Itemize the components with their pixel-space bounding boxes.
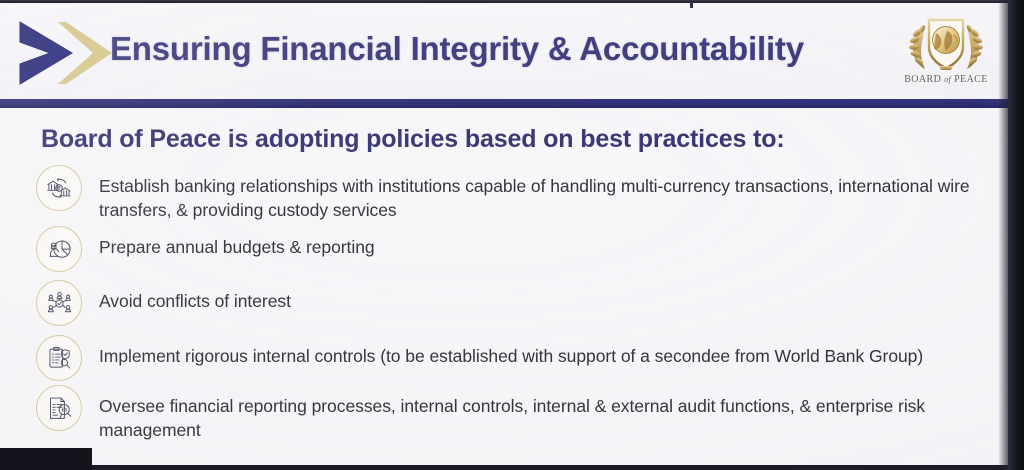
list-item-label: Implement rigorous internal controls (to… bbox=[99, 338, 923, 368]
brand-wordmark: BOARD of PEACE bbox=[904, 74, 988, 85]
wordmark-mid: of bbox=[944, 75, 951, 84]
slide-body: Board of Peace is adopting policies base… bbox=[0, 108, 1010, 465]
bank-transfer-icon bbox=[36, 165, 82, 211]
list-item: Establish banking relationships with ins… bbox=[36, 168, 996, 222]
screen-edge-right bbox=[1008, 0, 1024, 470]
list-item: Prepare annual budgets & reporting bbox=[36, 229, 996, 272]
slide-header: Ensuring Financial Integrity & Accountab… bbox=[0, 3, 1010, 99]
body-lead-heading: Board of Peace is adopting policies base… bbox=[41, 125, 785, 154]
screen-bezel-bottom-left bbox=[0, 448, 92, 470]
brand-logo: BOARD of PEACE bbox=[894, 15, 998, 93]
slide-title: Ensuring Financial Integrity & Accountab… bbox=[110, 30, 804, 68]
screen-edge-top bbox=[0, 0, 1024, 3]
clipboard-check-magnifier-icon bbox=[36, 335, 82, 381]
network-people-icon bbox=[36, 280, 82, 326]
pie-chart-budget-icon bbox=[36, 226, 82, 272]
document-audit-chart-icon bbox=[36, 385, 82, 431]
wordmark-tail: PEACE bbox=[954, 74, 988, 85]
list-item: Implement rigorous internal controls (to… bbox=[36, 338, 996, 381]
policy-bullet-list: Establish banking relationships with ins… bbox=[36, 168, 996, 451]
list-item-label: Prepare annual budgets & reporting bbox=[99, 229, 375, 259]
list-item-label: Establish banking relationships with ins… bbox=[99, 168, 989, 222]
double-chevron-right-icon bbox=[14, 20, 114, 86]
wordmark-lead: BOARD bbox=[904, 74, 941, 85]
header-divider-rule bbox=[0, 99, 1010, 108]
list-item-label: Avoid conflicts of interest bbox=[99, 283, 291, 313]
list-item-label: Oversee financial reporting processes, i… bbox=[99, 388, 989, 442]
screen-top-notch bbox=[690, 0, 693, 8]
list-item: Oversee financial reporting processes, i… bbox=[36, 388, 996, 442]
list-item: Avoid conflicts of interest bbox=[36, 283, 996, 326]
presentation-slide: Ensuring Financial Integrity & Accountab… bbox=[0, 3, 1010, 465]
shield-laurel-globe-icon bbox=[903, 15, 989, 73]
projected-slide-photo: Ensuring Financial Integrity & Accountab… bbox=[0, 0, 1024, 470]
